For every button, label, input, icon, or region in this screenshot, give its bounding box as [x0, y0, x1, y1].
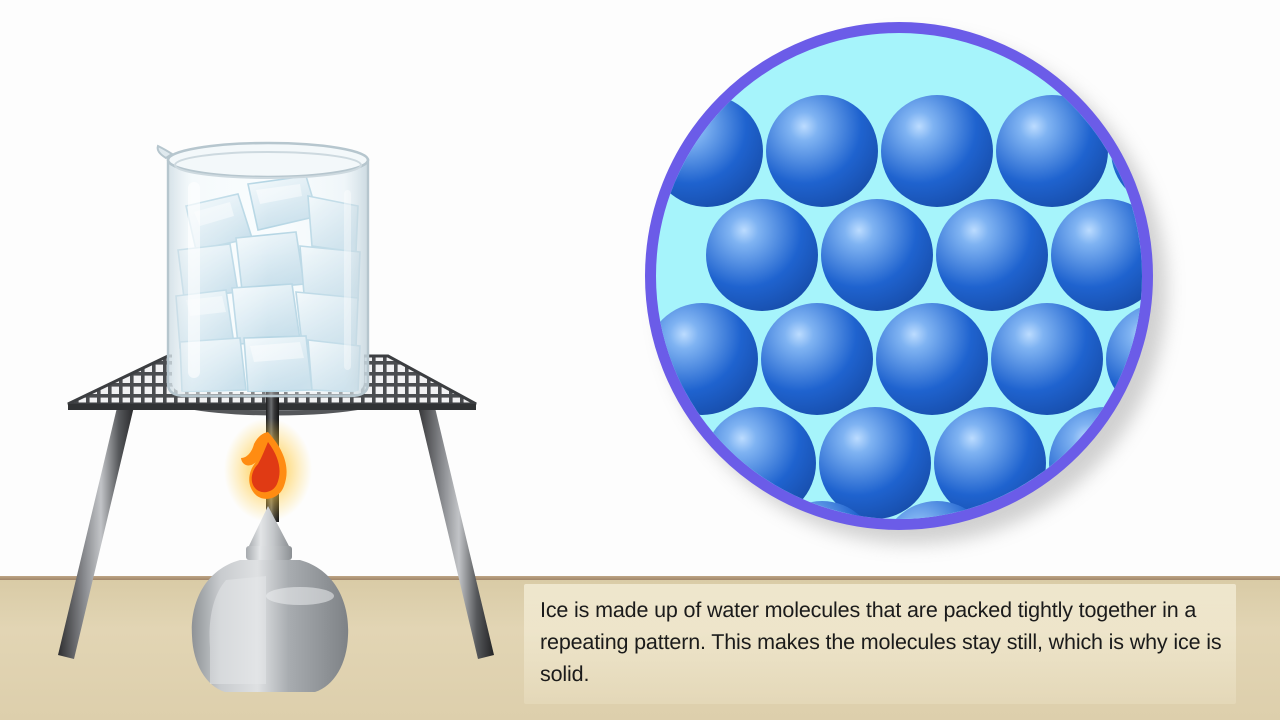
water-molecule — [881, 95, 993, 207]
water-molecule — [1051, 199, 1153, 311]
lab-apparatus — [0, 0, 560, 720]
water-molecule — [876, 303, 988, 415]
caption-text: Ice is made up of water molecules that a… — [540, 594, 1240, 690]
water-molecule — [991, 303, 1103, 415]
illustration-stage: Ice is made up of water molecules that a… — [0, 0, 1280, 720]
water-molecule — [936, 199, 1048, 311]
water-molecule — [761, 303, 873, 415]
water-molecule — [706, 199, 818, 311]
water-molecule — [821, 199, 933, 311]
molecule-circle — [645, 22, 1153, 530]
beaker — [158, 143, 368, 400]
water-molecule — [646, 303, 758, 415]
molecule-diagram — [645, 22, 1167, 550]
water-molecule — [766, 95, 878, 207]
water-molecule — [651, 95, 763, 207]
alcohol-burner — [192, 506, 348, 692]
water-molecule — [996, 95, 1108, 207]
